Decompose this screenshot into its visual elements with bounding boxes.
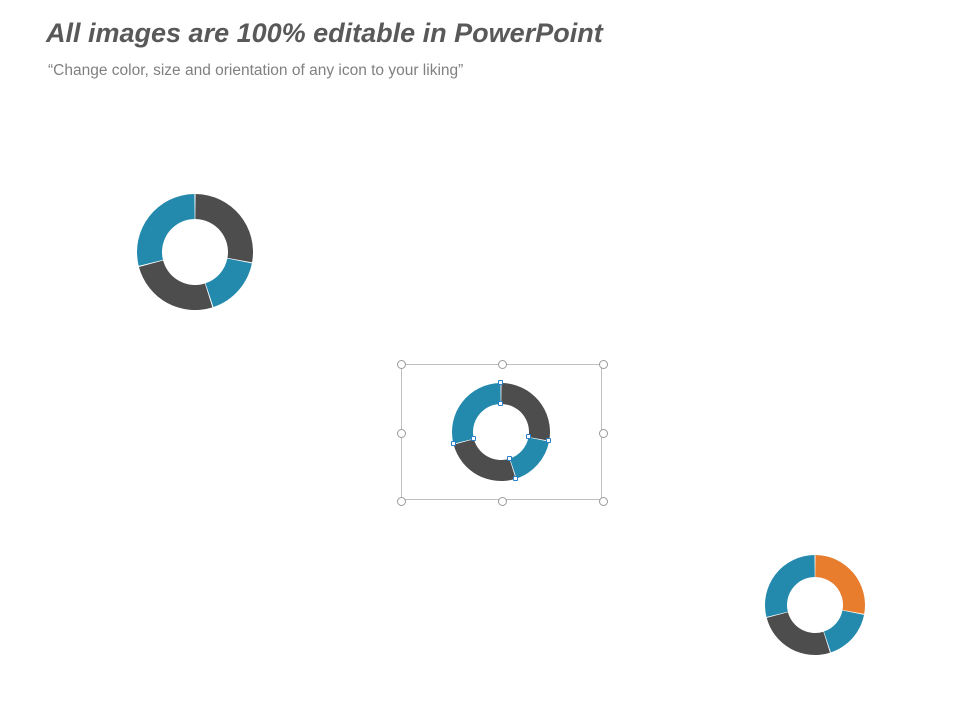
vertex-handle[interactable] bbox=[526, 434, 531, 439]
donut-chart-top-left[interactable] bbox=[133, 190, 257, 314]
resize-handle-middle-right[interactable] bbox=[599, 429, 608, 438]
donut-segment bbox=[195, 194, 253, 262]
resize-handle-middle-left[interactable] bbox=[397, 429, 406, 438]
resize-handle-bottom-left[interactable] bbox=[397, 497, 406, 506]
donut-segment bbox=[765, 555, 815, 617]
page-title: All images are 100% editable in PowerPoi… bbox=[46, 18, 603, 49]
resize-handle-top-left[interactable] bbox=[397, 360, 406, 369]
resize-handle-bottom-right[interactable] bbox=[599, 497, 608, 506]
resize-handle-top-middle[interactable] bbox=[498, 360, 507, 369]
donut-segment bbox=[139, 261, 212, 310]
donut-segment bbox=[767, 612, 830, 655]
page-subtitle: “Change color, size and orientation of a… bbox=[48, 62, 463, 80]
slide-canvas: All images are 100% editable in PowerPoi… bbox=[0, 0, 960, 720]
resize-handle-top-right[interactable] bbox=[599, 360, 608, 369]
donut-segment bbox=[205, 258, 251, 306]
donut-segment bbox=[137, 194, 195, 266]
donut-bottom-right-graphic bbox=[761, 551, 869, 659]
donut-segment bbox=[824, 611, 864, 653]
vertex-handle[interactable] bbox=[498, 380, 503, 385]
donut-top-left-graphic bbox=[133, 190, 257, 314]
vertex-handle[interactable] bbox=[546, 438, 551, 443]
vertex-handle[interactable] bbox=[507, 456, 512, 461]
vertex-handle[interactable] bbox=[498, 401, 503, 406]
vertex-handle[interactable] bbox=[513, 476, 518, 481]
donut-chart-bottom-right[interactable] bbox=[761, 551, 869, 659]
vertex-handle[interactable] bbox=[471, 436, 476, 441]
donut-segment bbox=[815, 555, 865, 614]
vertex-handle[interactable] bbox=[451, 441, 456, 446]
resize-handle-bottom-middle[interactable] bbox=[498, 497, 507, 506]
